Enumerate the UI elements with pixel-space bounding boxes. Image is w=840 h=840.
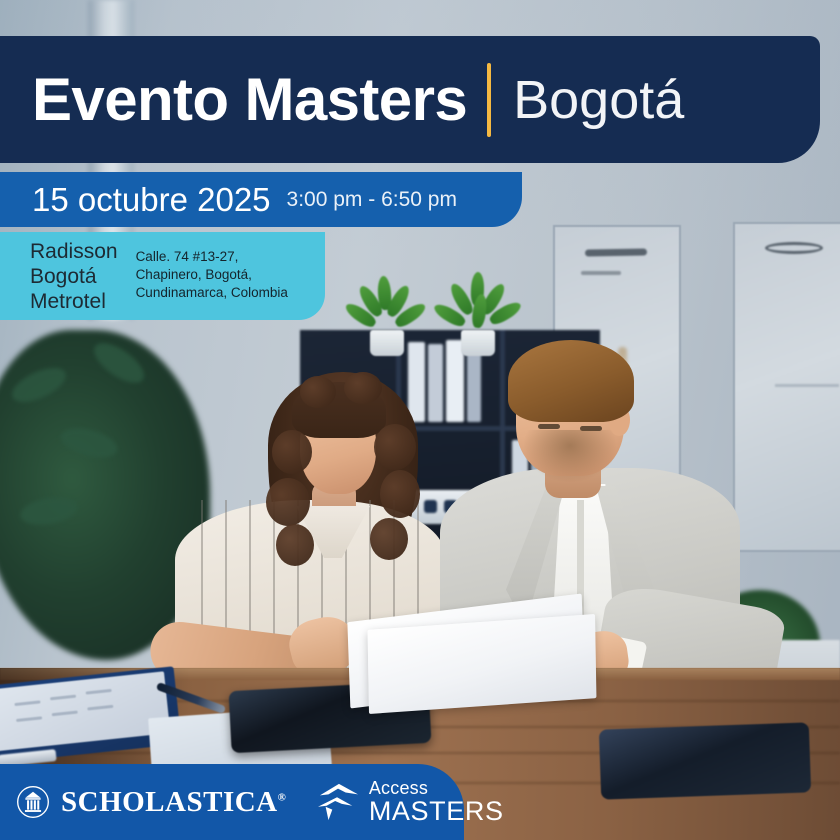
classical-building-icon	[16, 785, 50, 819]
scholastica-wordmark: SCHOLASTICA®	[61, 788, 286, 817]
venue-name-line3: Metrotel	[30, 290, 118, 315]
scholastica-logo: SCHOLASTICA®	[16, 785, 286, 819]
access-masters-wordmark: Access MASTERS	[369, 779, 504, 825]
title-divider	[487, 63, 491, 137]
venue-name-line1: Radisson	[30, 240, 118, 265]
venue-address-line3: Cundinamarca, Colombia	[136, 284, 288, 302]
access-masters-logo: Access MASTERS	[316, 779, 504, 825]
event-date: 15 octubre 2025	[32, 183, 271, 216]
potted-plant-right	[432, 282, 524, 356]
event-title: Evento Masters	[32, 70, 467, 130]
access-masters-line2: MASTERS	[369, 798, 504, 825]
access-masters-line1: Access	[369, 779, 504, 797]
venue-address-line2: Chapinero, Bogotá,	[136, 266, 288, 284]
venue-name-line2: Bogotá	[30, 265, 118, 290]
document-sheet-front	[368, 614, 597, 714]
event-time: 3:00 pm - 6:50 pm	[287, 189, 457, 210]
chevron-birds-icon	[316, 782, 360, 822]
event-city: Bogotá	[513, 73, 684, 127]
venue-banner: Radisson Bogotá Metrotel Calle. 74 #13-2…	[0, 232, 325, 320]
potted-plant-left	[345, 286, 429, 356]
event-poster: Evento Masters Bogotá 15 octubre 2025 3:…	[0, 0, 840, 840]
venue-name: Radisson Bogotá Metrotel	[30, 240, 118, 314]
venue-address-line1: Calle. 74 #13-27,	[136, 248, 288, 266]
date-banner: 15 octubre 2025 3:00 pm - 6:50 pm	[0, 172, 522, 227]
venue-address: Calle. 74 #13-27, Chapinero, Bogotá, Cun…	[136, 240, 288, 303]
footer-logos: SCHOLASTICA® Access MASTERS	[0, 764, 464, 840]
tablet-secondary	[599, 722, 811, 799]
framed-art-right	[733, 222, 840, 552]
title-banner: Evento Masters Bogotá	[0, 36, 820, 163]
